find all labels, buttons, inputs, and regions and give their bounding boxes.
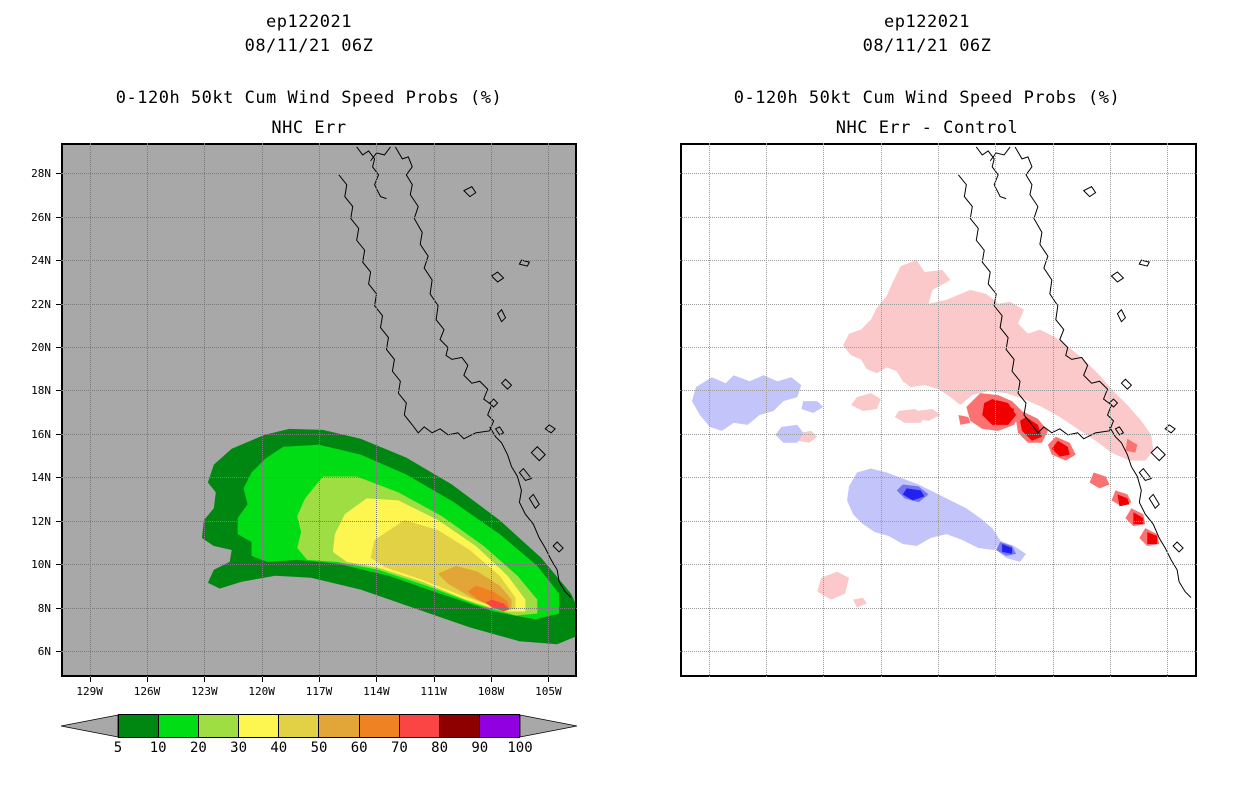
x-tick-mark: [204, 677, 205, 682]
gridline-horizontal: [61, 477, 577, 478]
chart-subtitle-right: NHC Err - Control: [618, 118, 1236, 138]
gridline-horizontal: [680, 173, 1197, 174]
gridline-vertical: [938, 143, 939, 677]
x-axis-label: 123W: [181, 685, 227, 698]
gridline-vertical: [147, 143, 148, 677]
gridline-horizontal: [680, 390, 1197, 391]
y-tick-mark: [56, 347, 61, 348]
x-axis-label: 111W: [411, 685, 457, 698]
colorbar-tick-label: 100: [494, 740, 546, 756]
gridline-vertical: [823, 143, 824, 677]
colorbar-left-under-arrow: [61, 714, 118, 738]
colorbar-swatch: [119, 715, 159, 737]
gridline-horizontal: [61, 564, 577, 565]
colorbar-swatch: [279, 715, 319, 737]
y-tick-mark: [56, 434, 61, 435]
gridline-vertical: [766, 143, 767, 677]
storm-id-right: ep122021: [618, 12, 1236, 32]
y-axis-label: 10N: [5, 558, 51, 571]
x-axis-label: 108W: [468, 685, 514, 698]
y-tick-mark: [56, 217, 61, 218]
storm-id-left: ep122021: [0, 12, 618, 32]
gridline-horizontal: [61, 390, 577, 391]
y-axis-label: 16N: [5, 428, 51, 441]
gridline-vertical: [709, 143, 710, 677]
y-axis-label: 24N: [5, 254, 51, 267]
x-axis-label: 129W: [67, 685, 113, 698]
map-plot-right: [680, 143, 1197, 677]
y-tick-mark: [56, 173, 61, 174]
y-tick-mark: [56, 477, 61, 478]
x-tick-mark: [147, 677, 148, 682]
gridline-vertical: [376, 143, 377, 677]
gridline-vertical: [319, 143, 320, 677]
y-tick-mark: [56, 521, 61, 522]
gridline-horizontal: [680, 260, 1197, 261]
x-axis-label: 120W: [239, 685, 285, 698]
x-tick-mark: [548, 677, 549, 682]
gridline-vertical: [548, 143, 549, 677]
gridline-vertical: [204, 143, 205, 677]
y-tick-mark: [56, 304, 61, 305]
colorbar-swatch: [400, 715, 440, 737]
y-tick-mark: [56, 564, 61, 565]
gridline-horizontal: [61, 217, 577, 218]
panel-nhc-err: ep122021 08/11/21 06Z 0-120h 50kt Cum Wi…: [0, 0, 618, 800]
colorbar-left-labels: 5102030405060708090100: [61, 740, 577, 758]
colorbar-swatch: [440, 715, 480, 737]
colorbar-swatch: [319, 715, 359, 737]
gridline-vertical: [1053, 143, 1054, 677]
y-axis-label: 18N: [5, 384, 51, 397]
gridline-horizontal: [680, 434, 1197, 435]
gridline-horizontal: [680, 564, 1197, 565]
x-tick-mark: [319, 677, 320, 682]
gridline-vertical: [434, 143, 435, 677]
chart-title-right: 0-120h 50kt Cum Wind Speed Probs (%): [618, 88, 1236, 108]
colorbar-left-over-arrow: [520, 714, 577, 738]
gridline-horizontal: [680, 217, 1197, 218]
gridline-horizontal: [61, 260, 577, 261]
y-axis-label: 12N: [5, 515, 51, 528]
gridline-horizontal: [61, 521, 577, 522]
colorbar-left: 5102030405060708090100: [61, 714, 577, 738]
gridline-horizontal: [61, 173, 577, 174]
gridline-horizontal: [61, 434, 577, 435]
gridline-vertical: [262, 143, 263, 677]
gridline-horizontal: [680, 477, 1197, 478]
gridline-horizontal: [680, 304, 1197, 305]
x-axis-label: 114W: [353, 685, 399, 698]
y-axis-label: 22N: [5, 298, 51, 311]
x-tick-mark: [90, 677, 91, 682]
colorbar-swatch: [360, 715, 400, 737]
datetime-right: 08/11/21 06Z: [618, 36, 1236, 56]
colorbar-swatch: [159, 715, 199, 737]
colorbar-swatch: [239, 715, 279, 737]
gridline-vertical: [491, 143, 492, 677]
y-axis-label: 26N: [5, 211, 51, 224]
y-tick-mark: [56, 260, 61, 261]
gridline-vertical: [1110, 143, 1111, 677]
gridline-horizontal: [680, 651, 1197, 652]
gridline-horizontal: [61, 608, 577, 609]
colorbar-left-swatches: [118, 714, 520, 738]
x-tick-mark: [376, 677, 377, 682]
y-tick-mark: [56, 390, 61, 391]
y-axis-label: 28N: [5, 167, 51, 180]
gridline-horizontal: [61, 347, 577, 348]
x-axis-label: 126W: [124, 685, 170, 698]
chart-title-left: 0-120h 50kt Cum Wind Speed Probs (%): [0, 88, 618, 108]
chart-subtitle-left: NHC Err: [0, 118, 618, 138]
y-axis-label: 6N: [5, 645, 51, 658]
gridline-vertical: [90, 143, 91, 677]
gridline-horizontal: [680, 521, 1197, 522]
y-axis-label: 8N: [5, 602, 51, 615]
y-axis-label: 14N: [5, 471, 51, 484]
x-axis-label: 105W: [525, 685, 571, 698]
y-axis-label: 20N: [5, 341, 51, 354]
gridline-horizontal: [680, 608, 1197, 609]
gridline-horizontal: [61, 651, 577, 652]
x-tick-mark: [491, 677, 492, 682]
y-tick-mark: [56, 651, 61, 652]
y-tick-mark: [56, 608, 61, 609]
x-tick-mark: [262, 677, 263, 682]
x-tick-mark: [434, 677, 435, 682]
contour-fills-left: [202, 429, 575, 644]
datetime-left: 08/11/21 06Z: [0, 36, 618, 56]
colorbar-swatch: [480, 715, 519, 737]
map-plot-left: [61, 143, 577, 677]
panel-nhc-err-minus-control: ep122021 08/11/21 06Z 0-120h 50kt Cum Wi…: [618, 0, 1236, 800]
gridline-horizontal: [680, 347, 1197, 348]
x-axis-label: 117W: [296, 685, 342, 698]
gridline-horizontal: [61, 304, 577, 305]
gridline-vertical: [995, 143, 996, 677]
gridline-vertical: [1167, 143, 1168, 677]
colorbar-swatch: [199, 715, 239, 737]
gridline-vertical: [881, 143, 882, 677]
